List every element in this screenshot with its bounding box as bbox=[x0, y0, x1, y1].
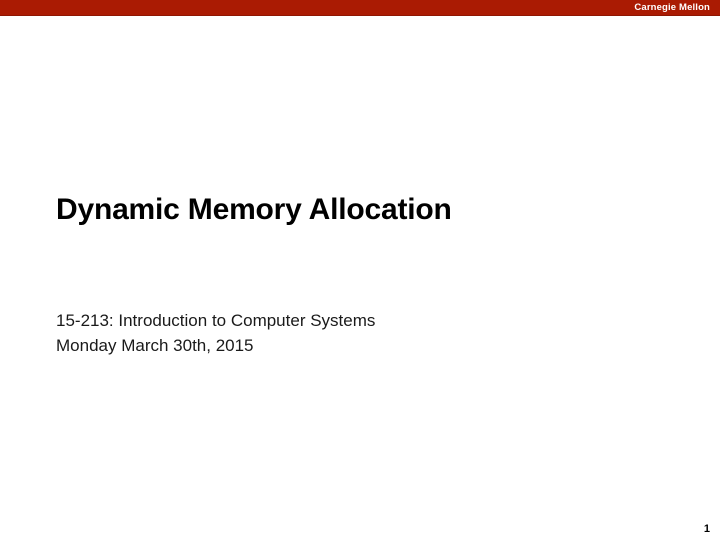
brand-band: Carnegie Mellon bbox=[0, 0, 720, 16]
brand-institution-label: Carnegie Mellon bbox=[634, 2, 710, 14]
slide-canvas: Carnegie Mellon Dynamic Memory Allocatio… bbox=[0, 0, 720, 540]
page-number: 1 bbox=[704, 523, 710, 536]
subtitle-date-line: Monday March 30th, 2015 bbox=[56, 334, 375, 359]
slide-title: Dynamic Memory Allocation bbox=[56, 192, 452, 228]
subtitle-course-line: 15-213: Introduction to Computer Systems bbox=[56, 309, 375, 334]
slide-subtitle: 15-213: Introduction to Computer Systems… bbox=[56, 309, 375, 358]
